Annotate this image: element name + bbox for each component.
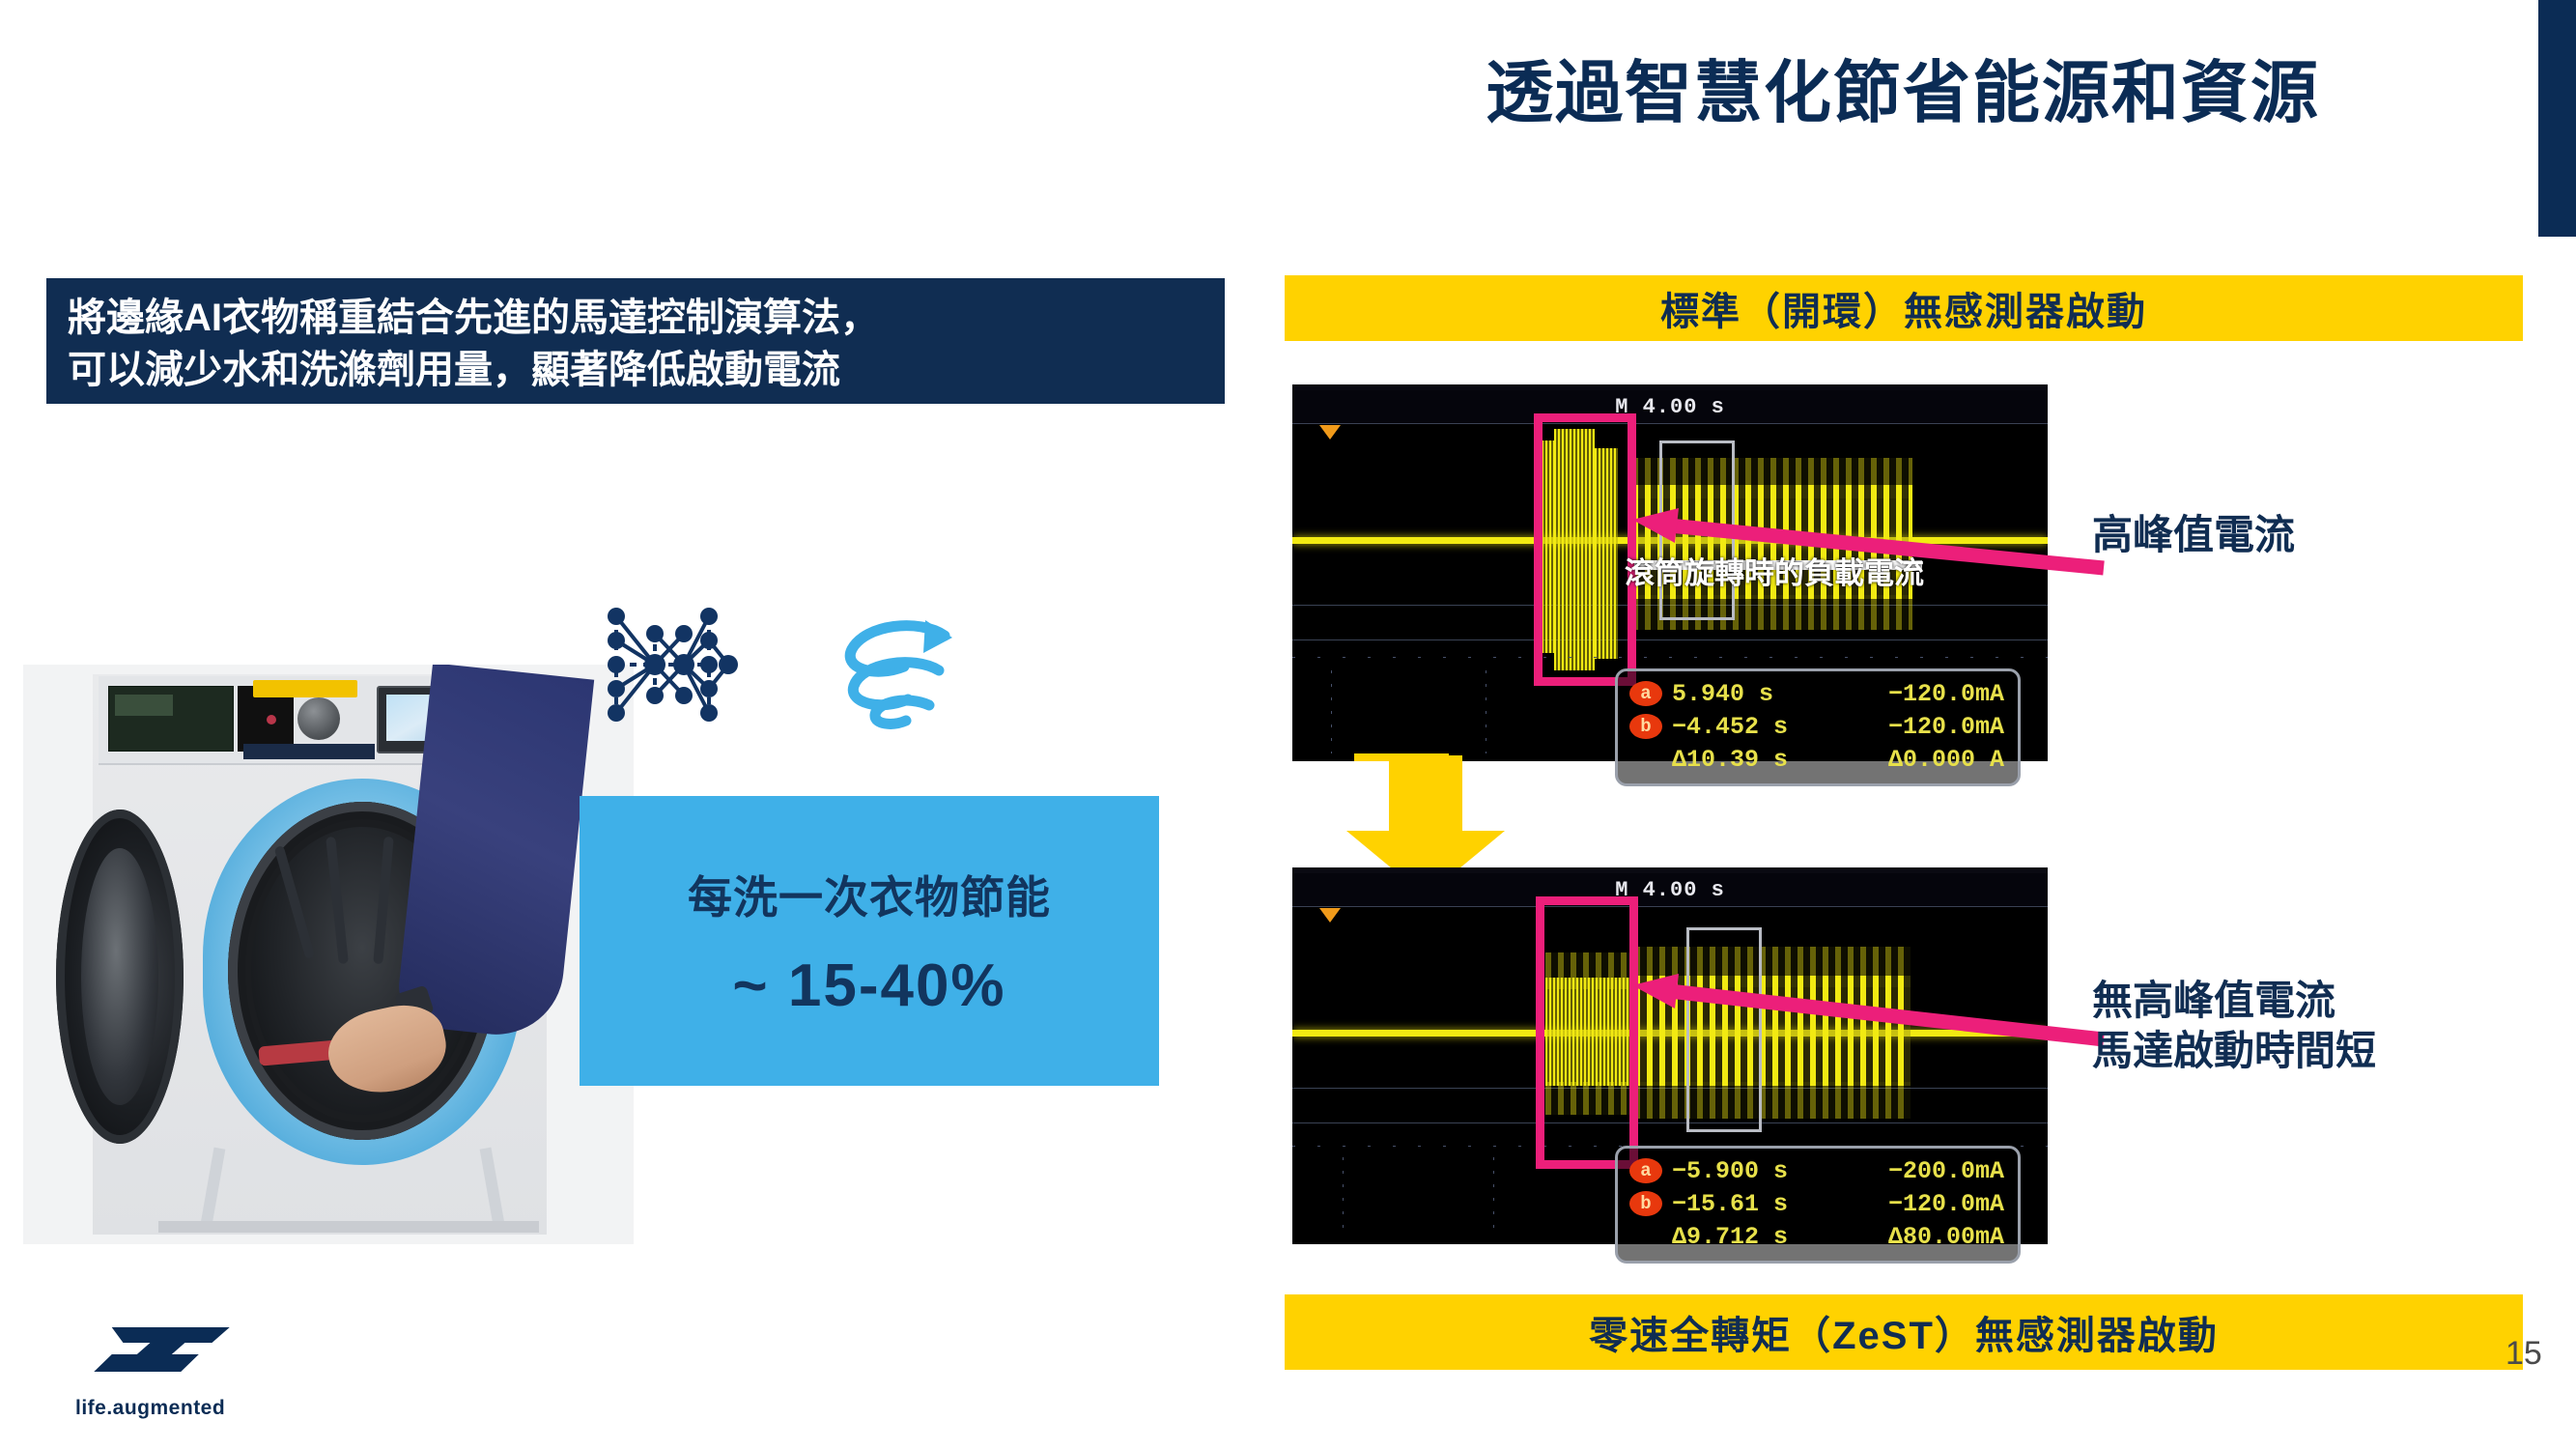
cursor-badge-b: b: [1629, 1191, 1662, 1216]
statement-banner: 將邊緣AI衣物稱重結合先進的馬達控制演算法， 可以減少水和洗滌劑用量，顯著降低啟…: [46, 278, 1225, 404]
measurement-delta-time: Δ9.712 s: [1672, 1223, 1855, 1251]
measurement-row-delta: Δ9.712 s Δ80.00mA: [1629, 1220, 2004, 1253]
cursor-badge-delta: [1629, 747, 1662, 772]
measurement-current: −200.0mA: [1855, 1157, 2004, 1185]
scope-gridline: [1292, 423, 2048, 424]
swirl-arrow-icon: [836, 616, 958, 730]
annotation-peak-current: 高峰值電流: [2092, 510, 2295, 560]
cursor-badge-b: b: [1629, 714, 1662, 739]
photo-badge-strip: [243, 744, 375, 759]
scope-tick-row: [1292, 657, 2048, 658]
measurement-current: −120.0mA: [1855, 680, 2004, 708]
trigger-marker-icon: [1319, 425, 1341, 440]
scope-gridline: [1292, 639, 2048, 640]
measurement-row: b −15.61 s −120.0mA: [1629, 1187, 2004, 1220]
photo-rig-base: [158, 1221, 539, 1233]
measurement-current: −120.0mA: [1855, 1190, 2004, 1218]
photo-program-knob: [297, 697, 340, 740]
scope-measurements-1: a 5.940 s −120.0mA b −4.452 s −120.0mA Δ…: [1615, 668, 2021, 786]
energy-savings-card: 每洗一次衣物節能 ~ 15-40%: [580, 796, 1159, 1086]
trigger-marker-icon: [1319, 908, 1341, 923]
banner-standard-start: 標準（開環）無感測器啟動: [1285, 275, 2523, 341]
highlight-box-peak-current: [1534, 413, 1636, 686]
st-logo-icon: [83, 1325, 253, 1385]
page-number: 15: [2505, 1335, 2542, 1373]
photo-control-board: [108, 686, 234, 752]
accent-edge-bar: [2538, 0, 2576, 237]
cursor-badge-a: a: [1629, 1158, 1662, 1183]
statement-line-2: 可以減少水和洗滌劑用量，顯著降低啟動電流: [68, 344, 1205, 396]
savings-value: ~ 15-40%: [732, 952, 1005, 1020]
scope-tick-column: [1486, 670, 1486, 753]
cursor-badge-a: a: [1629, 681, 1662, 706]
measurement-delta-time: Δ10.39 s: [1672, 746, 1855, 774]
annotation-line-2: 馬達啟動時間短: [2092, 1026, 2376, 1076]
scope-timebase-2: M 4.00 s: [1292, 873, 2048, 906]
neural-network-icon: [601, 607, 738, 723]
pointer-arrow-no-peak-current: [1623, 966, 2106, 1053]
scope-noise-band: [1634, 1082, 1911, 1119]
slide-root: 透過智慧化節省能源和資源 將邊緣AI衣物稱重結合先進的馬達控制演算法， 可以減少…: [0, 0, 2576, 1449]
banner-zest-start: 零速全轉矩（ZeST）無感測器啟動: [1285, 1294, 2523, 1370]
statement-line-1: 將邊緣AI衣物稱重結合先進的馬達控制演算法，: [68, 292, 1205, 344]
photo-indicator-led: [267, 715, 276, 724]
photo-door: [56, 810, 184, 1144]
scope-tick-column: [1493, 1157, 1494, 1236]
measurement-row: b −4.452 s −120.0mA: [1629, 710, 2004, 743]
scope-tick-column: [1331, 670, 1332, 753]
measurement-row: a −5.900 s −200.0mA: [1629, 1154, 2004, 1187]
measurement-delta-current: Δ80.00mA: [1855, 1223, 2004, 1251]
scope-timebase-1: M 4.00 s: [1292, 390, 2048, 423]
measurement-time: −4.452 s: [1672, 713, 1855, 741]
savings-label: 每洗一次衣物節能: [688, 863, 1051, 926]
measurement-time: 5.940 s: [1672, 680, 1855, 708]
cursor-badge-delta: [1629, 1224, 1662, 1249]
scope-measurements-2: a −5.900 s −200.0mA b −15.61 s −120.0mA …: [1615, 1146, 2021, 1264]
annotation-no-peak-current: 無高峰值電流 馬達啟動時間短: [2092, 976, 2376, 1076]
washing-machine-photo: [23, 665, 634, 1244]
st-logo-tagline: life.augmented: [75, 1397, 269, 1420]
measurement-delta-current: Δ0.000 A: [1855, 746, 2004, 774]
scope-gridline: [1292, 1122, 2048, 1123]
measurement-row: a 5.940 s −120.0mA: [1629, 677, 2004, 710]
page-title: 透過智慧化節省能源和資源: [1285, 56, 2521, 130]
annotation-line-1: 無高峰值電流: [2092, 976, 2376, 1026]
measurement-time: −5.900 s: [1672, 1157, 1855, 1185]
photo-label-tag: [253, 680, 357, 697]
scope-gridline: [1292, 906, 2048, 907]
measurement-time: −15.61 s: [1672, 1190, 1855, 1218]
scope-tick-column: [1343, 1157, 1344, 1236]
measurement-current: −120.0mA: [1855, 713, 2004, 741]
pointer-arrow-peak-current: [1623, 502, 2106, 580]
measurement-row-delta: Δ10.39 s Δ0.000 A: [1629, 743, 2004, 776]
